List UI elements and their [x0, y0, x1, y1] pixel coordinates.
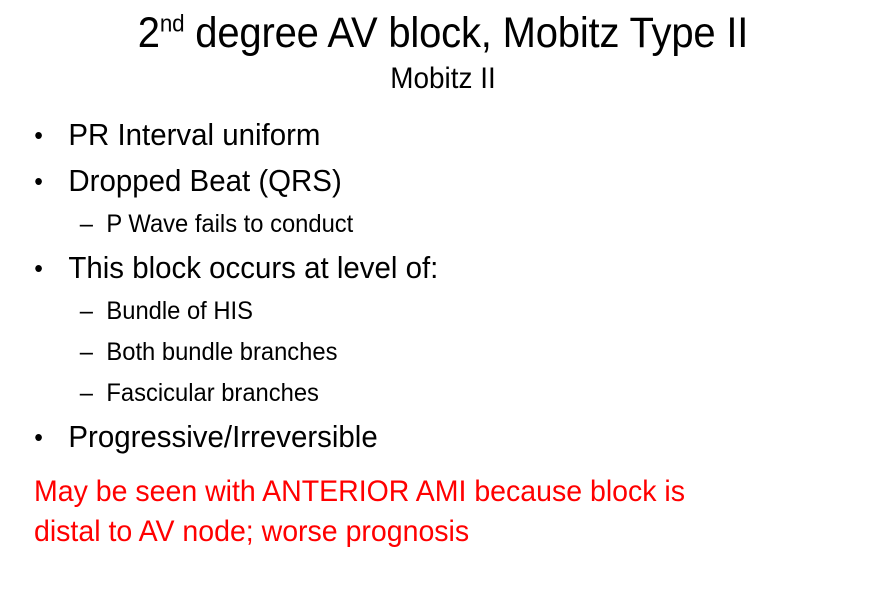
bullet-marker-icon: • [34, 414, 43, 460]
sub-list-item: – P Wave fails to conduct [0, 204, 842, 245]
list-item-label: Progressive/Irreversible [68, 419, 377, 454]
sub-list-item: – Fascicular branches [0, 373, 842, 414]
page-title: 2nd degree AV block, Mobitz Type II [31, 8, 855, 58]
emphasis-line: May be seen with ANTERIOR AMI because bl… [34, 472, 823, 512]
list-item: • Dropped Beat (QRS) [0, 158, 842, 204]
slide-canvas: 2nd degree AV block, Mobitz Type II Mobi… [0, 0, 886, 602]
list-item-label: This block occurs at level of: [68, 250, 438, 285]
sub-list-item-label: Fascicular branches [106, 379, 319, 407]
dash-marker-icon: – [80, 332, 93, 373]
page-subtitle: Mobitz II [31, 61, 855, 97]
sub-list-item-label: P Wave fails to conduct [106, 210, 353, 238]
sub-list-item: – Bundle of HIS [0, 291, 842, 332]
sub-list-item-label: Bundle of HIS [106, 297, 253, 325]
list-item: • This block occurs at level of: [0, 245, 842, 291]
bullet-marker-icon: • [34, 112, 43, 158]
dash-marker-icon: – [80, 291, 93, 332]
emphasis-line: distal to AV node; worse prognosis [34, 512, 823, 552]
bullet-marker-icon: • [34, 245, 43, 291]
sub-list-item-label: Both bundle branches [106, 338, 337, 366]
dash-marker-icon: – [80, 373, 93, 414]
emphasis-note: May be seen with ANTERIOR AMI because bl… [34, 472, 823, 552]
bullet-list: • PR Interval uniform • Dropped Beat (QR… [0, 112, 886, 460]
list-item-label: Dropped Beat (QRS) [68, 163, 341, 198]
dash-marker-icon: – [80, 204, 93, 245]
title-prefix: 2 [138, 9, 160, 57]
title-superscript: nd [160, 11, 185, 38]
title-block: 2nd degree AV block, Mobitz Type II Mobi… [0, 8, 886, 97]
list-item: • PR Interval uniform [0, 112, 842, 158]
list-item-label: PR Interval uniform [68, 117, 320, 152]
list-item: • Progressive/Irreversible [0, 414, 842, 460]
sub-list-item: – Both bundle branches [0, 332, 842, 373]
title-rest: degree AV block, Mobitz Type II [184, 9, 748, 57]
bullet-marker-icon: • [34, 158, 43, 204]
